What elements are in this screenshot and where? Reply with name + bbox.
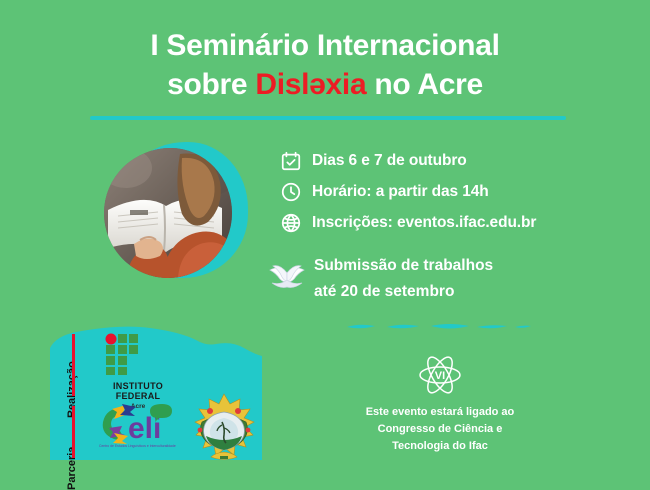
acre-coat-of-arms-icon bbox=[190, 392, 258, 462]
clock-icon bbox=[280, 181, 302, 203]
celi-tagline: Centro de Estudos Linguísticos e Intercu… bbox=[99, 444, 176, 448]
info-text-time: Horário: a partir das 14h bbox=[312, 183, 489, 201]
reading-photo bbox=[104, 148, 232, 278]
title-line-1: I Seminário Internacional bbox=[0, 26, 650, 65]
info-text-date: Dias 6 e 7 de outubro bbox=[312, 152, 467, 170]
submission-line-1: Submissão de trabalhos bbox=[314, 257, 493, 274]
ifac-logo: INSTITUTO FEDERAL Acre bbox=[96, 332, 180, 410]
congress-line-1: Este evento estará ligado ao bbox=[366, 406, 515, 418]
partners-panel: Realização Parceria INSTITUTO F bbox=[0, 310, 290, 460]
photo-blob bbox=[104, 136, 250, 284]
congress-line-3: Tecnologia do Ifac bbox=[392, 440, 488, 452]
dash-divider bbox=[345, 322, 535, 332]
title-part-before: sobre bbox=[167, 68, 255, 101]
page-title: I Seminário Internacional sobre Disləxia… bbox=[0, 26, 650, 104]
submission-block: Submissão de trabalhos até 20 de setembr… bbox=[268, 253, 493, 304]
ifac-mark-icon bbox=[116, 332, 160, 376]
info-text-registration: Inscrições: eventos.ifac.edu.br bbox=[312, 214, 536, 232]
calendar-check-icon bbox=[280, 150, 302, 172]
open-book-icon bbox=[268, 259, 306, 293]
submission-line-2: até 20 de setembro bbox=[314, 283, 454, 300]
globe-icon bbox=[280, 212, 302, 234]
parceria-accent-bar bbox=[72, 406, 75, 458]
info-row-time: Horário: a partir das 14h bbox=[280, 181, 600, 203]
info-row-date: Dias 6 e 7 de outubro bbox=[280, 150, 600, 172]
event-info-list: Dias 6 e 7 de outubro Horário: a partir … bbox=[280, 150, 600, 243]
info-row-registration: Inscrições: eventos.ifac.edu.br bbox=[280, 212, 600, 234]
title-keyword-dislexia: Disləxia bbox=[255, 68, 366, 101]
title-divider bbox=[90, 116, 566, 120]
congress-block: VI Este evento estará ligado ao Congress… bbox=[340, 352, 540, 455]
congress-line-2: Congresso de Ciência e bbox=[378, 423, 503, 435]
submission-text: Submissão de trabalhos até 20 de setembr… bbox=[314, 253, 493, 304]
atom-icon-label: VI bbox=[435, 370, 445, 382]
title-part-after: no Acre bbox=[366, 68, 483, 101]
congress-text: Este evento estará ligado ao Congresso d… bbox=[340, 404, 540, 455]
title-line-2: sobre Disləxia no Acre bbox=[0, 65, 650, 104]
atom-icon: VI bbox=[417, 352, 463, 398]
realizacao-accent-bar bbox=[72, 334, 75, 396]
ifac-name-line-1: INSTITUTO bbox=[96, 381, 180, 391]
